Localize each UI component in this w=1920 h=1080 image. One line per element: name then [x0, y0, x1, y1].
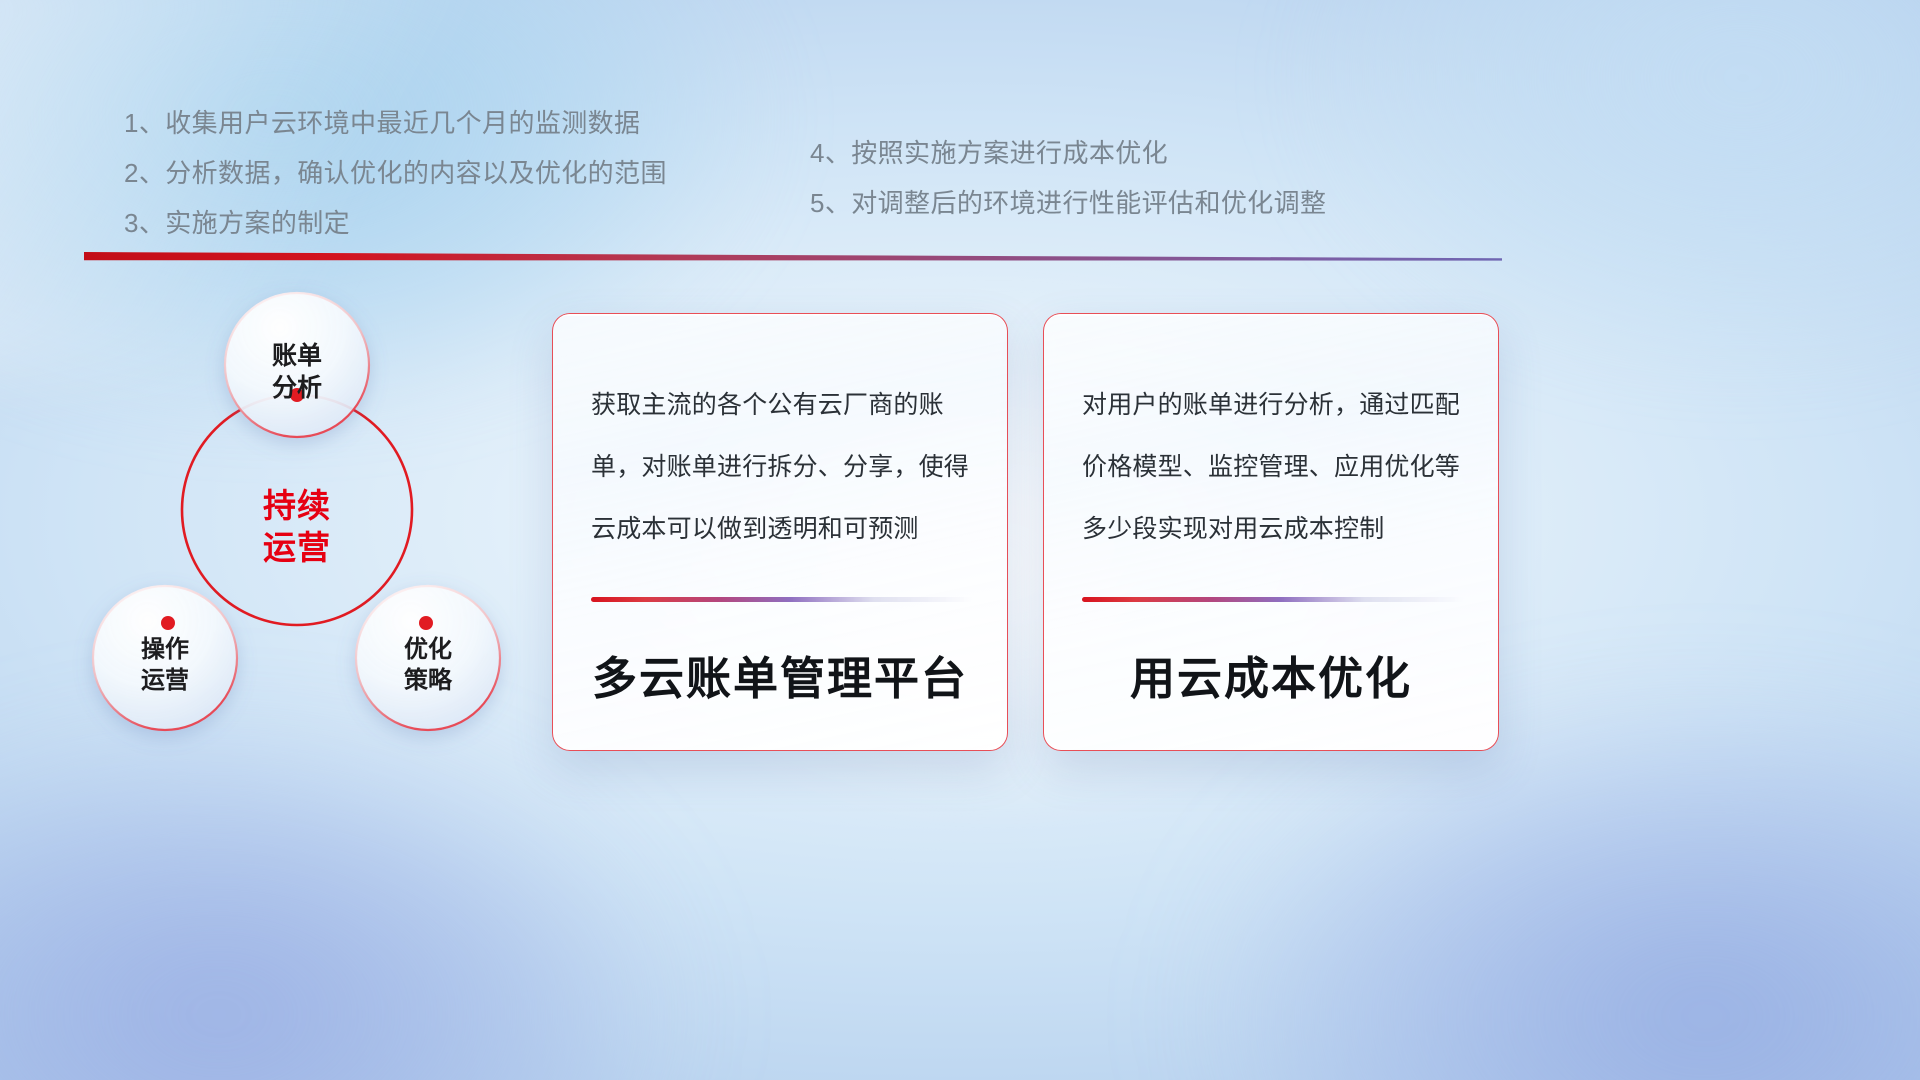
card-cloud-cost-optimization[interactable]: 对用户的账单进行分析，通过匹配价格模型、监控管理、应用优化等多少段实现对用云成本… [1043, 313, 1499, 751]
red-divider-line [84, 252, 1502, 261]
venn-label-strategy: 优化 策略 [368, 634, 488, 696]
steps-list-left: 1、收集用户云环境中最近几个月的监测数据 2、分析数据，确认优化的内容以及优化的… [124, 98, 667, 248]
venn-label-operation-line2: 运营 [105, 665, 225, 696]
venn-node-dot-bottom-left [161, 616, 175, 630]
step-item-3: 3、实施方案的制定 [124, 198, 667, 248]
venn-label-strategy-line1: 优化 [368, 634, 488, 665]
venn-center-label: 持续 运营 [227, 485, 367, 569]
step-item-5: 5、对调整后的环境进行性能评估和优化调整 [810, 178, 1326, 228]
card-2-divider [1082, 597, 1464, 602]
venn-center-label-line2: 运营 [227, 527, 367, 569]
venn-node-dot-bottom-right [419, 616, 433, 630]
step-item-2: 2、分析数据，确认优化的内容以及优化的范围 [124, 148, 667, 198]
venn-center-label-line1: 持续 [227, 485, 367, 527]
venn-label-operation: 操作 运营 [105, 634, 225, 696]
slide-canvas: 1、收集用户云环境中最近几个月的监测数据 2、分析数据，确认优化的内容以及优化的… [0, 0, 1920, 1080]
venn-label-bill-analysis-line1: 账单 [237, 340, 357, 372]
venn-label-operation-line1: 操作 [105, 634, 225, 665]
card-2-body: 对用户的账单进行分析，通过匹配价格模型、监控管理、应用优化等多少段实现对用云成本… [1082, 374, 1460, 560]
venn-label-bill-analysis-line2: 分析 [237, 372, 357, 404]
card-2-title: 用云成本优化 [1044, 642, 1498, 707]
venn-label-bill-analysis: 账单 分析 [237, 340, 357, 404]
venn-label-strategy-line2: 策略 [368, 665, 488, 696]
card-1-body: 获取主流的各个公有云厂商的账单，对账单进行拆分、分享，使得云成本可以做到透明和可… [591, 374, 969, 560]
card-1-divider [591, 597, 973, 602]
card-1-title: 多云账单管理平台 [553, 642, 1007, 707]
step-item-4: 4、按照实施方案进行成本优化 [810, 128, 1326, 178]
steps-list-right: 4、按照实施方案进行成本优化 5、对调整后的环境进行性能评估和优化调整 [810, 128, 1326, 228]
card-multi-cloud-billing-platform[interactable]: 获取主流的各个公有云厂商的账单，对账单进行拆分、分享，使得云成本可以做到透明和可… [552, 313, 1008, 751]
step-item-1: 1、收集用户云环境中最近几个月的监测数据 [124, 98, 667, 148]
continuous-operation-venn: 账单 分析 操作 运营 优化 策略 持续 运营 [60, 280, 540, 780]
